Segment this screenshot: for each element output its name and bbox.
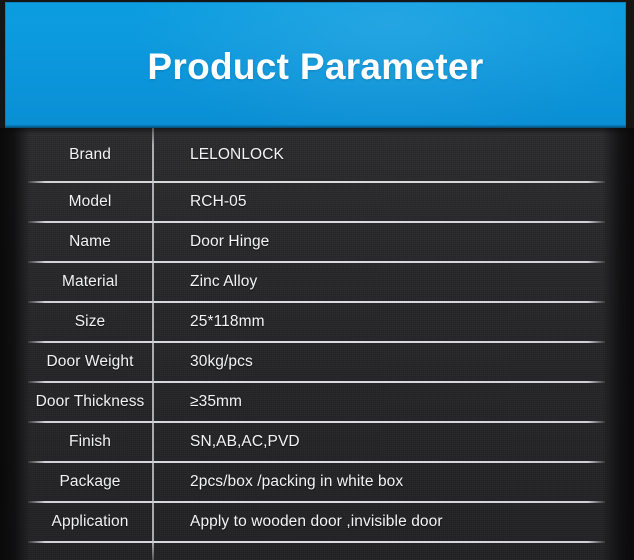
spec-value: RCH-05 — [190, 183, 605, 221]
spec-label: Application — [28, 503, 152, 541]
product-parameter-image: Product Parameter Brand LELONLOCK Model … — [0, 0, 634, 560]
spec-table: Brand LELONLOCK Model RCH-05 Name Door H… — [0, 128, 634, 560]
spec-value: 25*118mm — [190, 303, 605, 341]
table-row: Door Thickness ≥35mm — [0, 383, 634, 423]
spec-label: Door Weight — [28, 343, 152, 381]
header-banner: Product Parameter — [5, 2, 626, 128]
table-row: Package 2pcs/box /packing in white box — [0, 463, 634, 503]
spec-label: Package — [28, 463, 152, 501]
spec-label: Finish — [28, 423, 152, 461]
spec-value: SN,AB,AC,PVD — [190, 423, 605, 461]
spec-label: Door Thickness — [28, 383, 152, 421]
spec-label: Size — [28, 303, 152, 341]
spec-label: Brand — [28, 128, 152, 181]
table-row: Finish SN,AB,AC,PVD — [0, 423, 634, 463]
table-row: Door Weight 30kg/pcs — [0, 343, 634, 383]
table-row: Material Zinc Alloy — [0, 263, 634, 303]
page-title: Product Parameter — [5, 45, 626, 89]
spec-table-rows: Brand LELONLOCK Model RCH-05 Name Door H… — [0, 128, 634, 560]
table-row: Model RCH-05 — [0, 183, 634, 223]
spec-label: Name — [28, 223, 152, 261]
column-separator — [152, 128, 154, 560]
spec-value: Zinc Alloy — [190, 263, 605, 301]
table-row: Name Door Hinge — [0, 223, 634, 263]
table-row: Application Apply to wooden door ,invisi… — [0, 503, 634, 543]
table-row: Size 25*118mm — [0, 303, 634, 343]
spec-label: Material — [28, 263, 152, 301]
table-row: Brand LELONLOCK — [0, 128, 634, 183]
table-row-partial — [0, 543, 634, 555]
spec-label: Model — [28, 183, 152, 221]
spec-value: 30kg/pcs — [190, 343, 605, 381]
spec-value: LELONLOCK — [190, 128, 605, 181]
spec-value: ≥35mm — [190, 383, 605, 421]
spec-value: Door Hinge — [190, 223, 605, 261]
spec-value: 2pcs/box /packing in white box — [190, 463, 605, 501]
spec-value: Apply to wooden door ,invisible door — [190, 503, 605, 541]
